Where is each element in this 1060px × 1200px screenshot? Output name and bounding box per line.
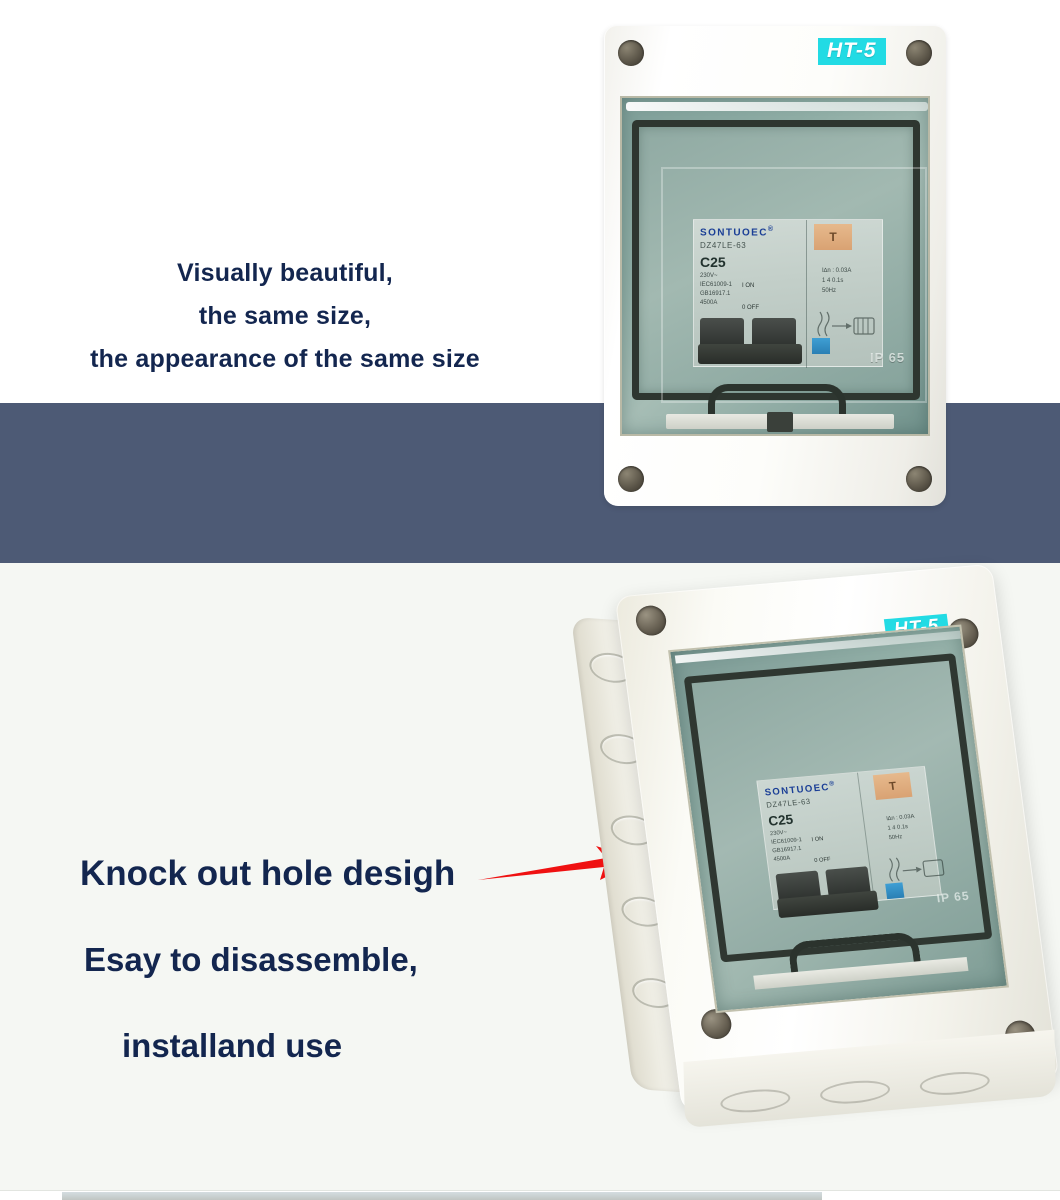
circuit-breaker-faceplate-angled: SONTUOEC® DZ47LE-63 C25 230V~ IEC61009-1… [756, 766, 942, 910]
model-badge-ht5: HT-5 [818, 38, 886, 65]
breaker-spec-list-angled: 230V~ IEC61009-1 GB16917.1 4500A [770, 828, 805, 865]
rcd-residual-current: I∆n : 0.03A [822, 266, 851, 276]
product-enclosure-front-view: HT-5 SONTUOEC® DZ47LE-63 C25 230V~ IEC61… [604, 26, 946, 506]
breaker-toggle-assembly[interactable] [698, 318, 802, 364]
breaker-model-label: DZ47LE-63 [700, 241, 746, 250]
breaker-toggle-assembly-angled[interactable] [774, 866, 879, 918]
screw-hole-top-left [618, 40, 644, 66]
window-glare-highlight [626, 102, 928, 111]
ip-rating-text: IP 65 [870, 350, 905, 365]
product-feature-page: Visually beautiful, the same size, the a… [0, 0, 1060, 1200]
breaker-on-marking-angled: I ON [810, 828, 829, 850]
knock-out-hole-bottom-1 [720, 1087, 790, 1115]
breaker-brand-label-angled: SONTUOEC® [764, 780, 837, 798]
ip-rating-text-angled: IP 65 [936, 889, 971, 906]
bottom-caption-line-2: Esay to disassemble, [84, 938, 572, 982]
breaker-off-marking-angled: 0 OFF [813, 849, 832, 871]
screw-hole-bottom-right [906, 466, 932, 492]
cover-latch-tab[interactable] [767, 412, 793, 432]
breaker-toggle-base [698, 344, 802, 364]
screw-hole-top-right [906, 40, 932, 66]
breaker-capacity: 4500A [700, 299, 732, 308]
breaker-brand-text-angled: SONTUOEC [764, 782, 830, 798]
rcd-spec-list: I∆n : 0.03A 1 4 0.1s 50Hz [822, 266, 851, 296]
rcd-line-3-angled: 50Hz [888, 831, 917, 843]
breaker-voltage: 230V~ [700, 272, 732, 281]
breaker-current-rating-angled: C25 [767, 811, 794, 828]
indicator-window-blue-angled [885, 882, 904, 899]
bottom-caption-line-3: installand use [122, 1024, 572, 1068]
breaker-capacity-angled: 4500A [773, 853, 805, 864]
registered-mark-angled: ® [829, 780, 836, 787]
breaker-position-markings-angled: I ON 0 OFF [810, 828, 832, 871]
transparent-cover-window-angled: SONTUOEC® DZ47LE-63 C25 230V~ IEC61009-1… [668, 625, 1009, 1014]
knock-out-hole-bottom-3 [920, 1069, 990, 1097]
next-image-top-sliver [62, 1192, 822, 1200]
rcd-line-2: 1 4 0.1s [822, 276, 851, 286]
circuit-breaker-faceplate: SONTUOEC® DZ47LE-63 C25 230V~ IEC61009-1… [693, 219, 883, 367]
rcd-test-button-angled[interactable]: T [873, 772, 913, 800]
window-inner-frame-angled: SONTUOEC® DZ47LE-63 C25 230V~ IEC61009-1… [684, 653, 993, 962]
top-caption-block: Visually beautiful, the same size, the a… [70, 252, 500, 381]
enclosure-body-angled: HT-5 SONTUOEC® DZ47LE-63 C25 230V~ IEC61… [615, 564, 1060, 1113]
top-caption-line-3: the appearance of the same size [70, 338, 500, 381]
breaker-standard-1: IEC61009-1 [700, 281, 732, 290]
breaker-on-marking: I ON [742, 275, 759, 297]
breaker-position-markings: I ON 0 OFF [742, 275, 759, 319]
breaker-brand-text: SONTUOEC [700, 227, 768, 238]
breaker-spec-list: 230V~ IEC61009-1 GB16917.1 4500A [700, 272, 732, 308]
product-enclosure-angled-view: HT-5 SONTUOEC® DZ47LE-63 C25 230V~ IEC61… [615, 564, 1060, 1113]
faceplate-divider [806, 220, 807, 368]
rcd-spec-list-angled: I∆n : 0.03A 1 4 0.1s 50Hz [886, 812, 918, 843]
breaker-brand-label: SONTUOEC® [700, 226, 774, 238]
transparent-cover-window: SONTUOEC® DZ47LE-63 C25 230V~ IEC61009-1… [620, 96, 930, 436]
top-caption-line-2: the same size, [70, 295, 500, 338]
top-caption-line-1: Visually beautiful, [70, 252, 500, 295]
breaker-model-label-angled: DZ47LE-63 [766, 797, 811, 809]
breaker-off-marking: 0 OFF [742, 297, 759, 319]
breaker-standard-2: GB16917.1 [700, 290, 732, 299]
screw-hole-bottom-left [618, 466, 644, 492]
knock-out-hole-bottom-2 [820, 1078, 890, 1106]
screw-hole-angled-top-left [634, 604, 668, 636]
indicator-window-blue [812, 338, 830, 354]
rcd-line-3: 50Hz [822, 286, 851, 296]
registered-mark: ® [768, 226, 775, 233]
rcd-test-button[interactable]: T [814, 224, 852, 250]
breaker-current-rating: C25 [700, 254, 726, 270]
